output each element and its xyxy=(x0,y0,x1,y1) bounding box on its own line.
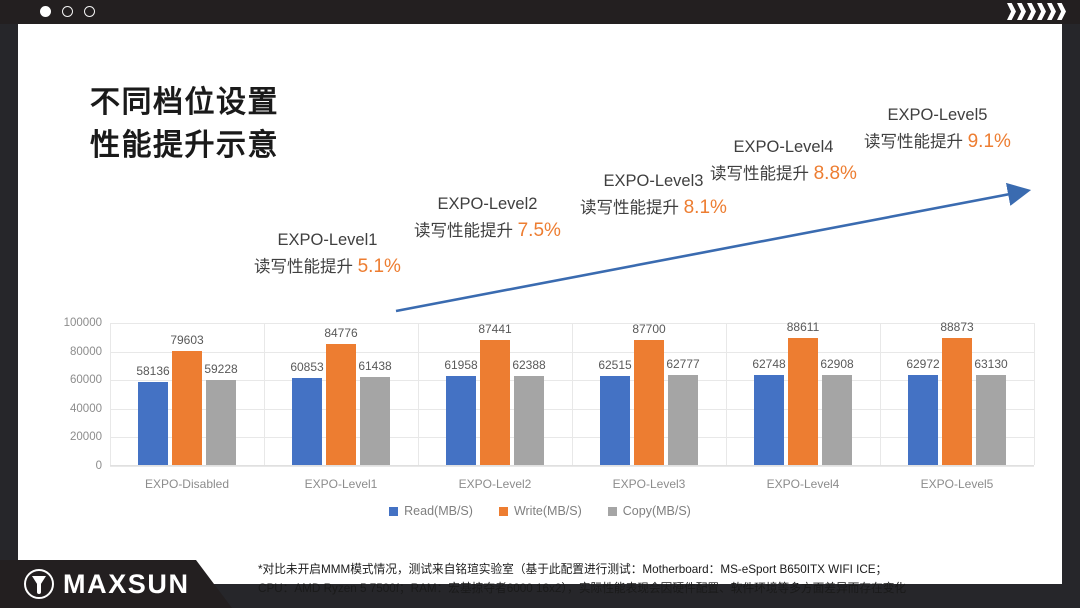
maxsun-emblem-icon xyxy=(24,569,54,599)
gridline xyxy=(110,466,1034,467)
bar-write[interactable]: 79603 xyxy=(172,351,202,465)
chevron-right-icon xyxy=(1057,3,1066,20)
legend-item[interactable]: Write(MB/S) xyxy=(499,504,582,518)
footnote-line1: *对比未开启MMM模式情况，测试来自铭瑄实验室（基于此配置进行测试：Mother… xyxy=(258,560,1068,579)
bar-read[interactable]: 62972 xyxy=(908,375,938,465)
chevron-decoration xyxy=(1007,3,1066,20)
chevron-right-icon xyxy=(1017,3,1026,20)
callout-level4-label: 读写性能提升 xyxy=(710,165,809,183)
callout-level3-label: 读写性能提升 xyxy=(580,199,679,217)
callout-level2-pct: 7.5% xyxy=(518,220,561,241)
chevron-right-icon xyxy=(1037,3,1046,20)
bar-value-label: 88873 xyxy=(940,320,973,334)
callout-level2-title: EXPO-Level2 xyxy=(414,192,561,217)
page-title: 不同档位设置 性能提升示意 xyxy=(90,82,279,167)
chart-legend: Read(MB/S)Write(MB/S)Copy(MB/S) xyxy=(40,504,1040,518)
y-tick-label: 80000 xyxy=(70,346,102,358)
bar-value-label: 62777 xyxy=(666,357,699,371)
x-tick-label: EXPO-Level3 xyxy=(572,477,726,491)
callout-level1-label: 读写性能提升 xyxy=(254,258,353,276)
bar-group: 627488861162908 xyxy=(726,323,880,465)
x-tick-label: EXPO-Level5 xyxy=(880,477,1034,491)
bar-value-label: 62972 xyxy=(906,357,939,371)
page-title-line1: 不同档位设置 xyxy=(90,82,279,125)
bar-read[interactable]: 61958 xyxy=(446,376,476,465)
legend-label: Copy(MB/S) xyxy=(623,504,691,518)
y-tick-label: 20000 xyxy=(70,431,102,443)
bar-value-label: 58136 xyxy=(136,364,169,378)
callout-level2: EXPO-Level2 读写性能提升 7.5% xyxy=(414,192,561,245)
y-tick-label: 60000 xyxy=(70,374,102,386)
slide-canvas: 不同档位设置 性能提升示意 EXPO-Level1 读写性能提升 5.1% EX… xyxy=(18,24,1062,584)
legend-item[interactable]: Read(MB/S) xyxy=(389,504,473,518)
dot-indicator-3[interactable] xyxy=(84,6,95,17)
bar-group: 608538477661438 xyxy=(264,323,418,465)
callout-level2-label: 读写性能提升 xyxy=(414,222,513,240)
bar-value-label: 62748 xyxy=(752,357,785,371)
bar-value-label: 59228 xyxy=(204,362,237,376)
callout-level4-title: EXPO-Level4 xyxy=(710,135,857,160)
dot-indicator-2[interactable] xyxy=(62,6,73,17)
slide-root: 不同档位设置 性能提升示意 EXPO-Level1 读写性能提升 5.1% EX… xyxy=(0,0,1080,608)
bar-value-label: 63130 xyxy=(974,357,1007,371)
bar-write[interactable]: 88873 xyxy=(942,338,972,465)
y-tick-label: 0 xyxy=(96,460,102,472)
bar-value-label: 79603 xyxy=(170,333,203,347)
callout-level5-label: 读写性能提升 xyxy=(864,133,963,151)
callout-level3-pct: 8.1% xyxy=(684,197,727,218)
x-tick-label: EXPO-Level4 xyxy=(726,477,880,491)
callout-level3: EXPO-Level3 读写性能提升 8.1% xyxy=(580,169,727,222)
y-axis-labels: 020000400006000080000100000 xyxy=(40,323,102,466)
category-separator xyxy=(1034,323,1035,465)
y-tick-label: 40000 xyxy=(70,403,102,415)
callout-level4: EXPO-Level4 读写性能提升 8.8% xyxy=(710,135,857,188)
legend-swatch xyxy=(499,507,508,516)
bar-value-label: 87441 xyxy=(478,322,511,336)
footnote-line2: CPU：AMD Ryzen 5 7500f；RAM：宏基掠夺者6000 16x2… xyxy=(258,579,1068,598)
chevron-right-icon xyxy=(1027,3,1036,20)
legend-item[interactable]: Copy(MB/S) xyxy=(608,504,691,518)
bar-value-label: 60853 xyxy=(290,360,323,374)
bar-copy[interactable]: 62777 xyxy=(668,375,698,465)
bar-read[interactable]: 62748 xyxy=(754,375,784,465)
callout-level5: EXPO-Level5 读写性能提升 9.1% xyxy=(864,103,1011,156)
bar-group: 625158770062777 xyxy=(572,323,726,465)
window-topbar xyxy=(0,0,1080,24)
bar-value-label: 62908 xyxy=(820,357,853,371)
x-tick-label: EXPO-Level2 xyxy=(418,477,572,491)
callout-level1: EXPO-Level1 读写性能提升 5.1% xyxy=(254,228,401,281)
callout-level5-title: EXPO-Level5 xyxy=(864,103,1011,128)
callout-level1-title: EXPO-Level1 xyxy=(254,228,401,253)
bar-write[interactable]: 84776 xyxy=(326,344,356,465)
bar-copy[interactable]: 61438 xyxy=(360,377,390,465)
bar-copy[interactable]: 59228 xyxy=(206,380,236,465)
bar-copy[interactable]: 63130 xyxy=(976,375,1006,465)
x-tick-label: EXPO-Disabled xyxy=(110,477,264,491)
performance-bar-chart: 020000400006000080000100000 581367960359… xyxy=(40,299,1040,514)
callout-level5-pct: 9.1% xyxy=(968,131,1011,152)
bar-value-label: 61958 xyxy=(444,358,477,372)
bar-groups: 5813679603592286085384776614386195887441… xyxy=(110,323,1034,465)
callout-level1-pct: 5.1% xyxy=(358,256,401,277)
dot-indicator-1[interactable] xyxy=(40,6,51,17)
footnote: *对比未开启MMM模式情况，测试来自铭瑄实验室（基于此配置进行测试：Mother… xyxy=(258,560,1068,599)
bar-value-label: 84776 xyxy=(324,326,357,340)
callout-level4-pct: 8.8% xyxy=(814,163,857,184)
bar-group: 619588744162388 xyxy=(418,323,572,465)
slide-indicator-dots[interactable] xyxy=(40,6,95,17)
y-tick-label: 100000 xyxy=(64,317,102,329)
legend-label: Write(MB/S) xyxy=(514,504,582,518)
page-title-line2: 性能提升示意 xyxy=(90,125,279,168)
bar-write[interactable]: 88611 xyxy=(788,338,818,465)
bar-read[interactable]: 60853 xyxy=(292,378,322,465)
bar-value-label: 62515 xyxy=(598,358,631,372)
bar-read[interactable]: 62515 xyxy=(600,376,630,465)
callout-level3-title: EXPO-Level3 xyxy=(580,169,727,194)
brand-name: MAXSUN xyxy=(63,571,190,598)
plot-area: 5813679603592286085384776614386195887441… xyxy=(110,323,1034,466)
legend-swatch xyxy=(608,507,617,516)
bar-group: 581367960359228 xyxy=(110,323,264,465)
bar-copy[interactable]: 62388 xyxy=(514,376,544,465)
bar-value-label: 61438 xyxy=(358,359,391,373)
brand-logo: MAXSUN xyxy=(0,560,232,608)
chevron-right-icon xyxy=(1047,3,1056,20)
bar-group: 629728887363130 xyxy=(880,323,1034,465)
bar-write[interactable]: 87441 xyxy=(480,340,510,465)
bar-value-label: 87700 xyxy=(632,322,665,336)
bar-value-label: 62388 xyxy=(512,358,545,372)
bar-copy[interactable]: 62908 xyxy=(822,375,852,465)
x-tick-label: EXPO-Level1 xyxy=(264,477,418,491)
bar-read[interactable]: 58136 xyxy=(138,382,168,465)
x-axis-labels: EXPO-DisabledEXPO-Level1EXPO-Level2EXPO-… xyxy=(110,477,1034,491)
legend-label: Read(MB/S) xyxy=(404,504,473,518)
bar-write[interactable]: 87700 xyxy=(634,340,664,465)
bar-value-label: 88611 xyxy=(787,320,819,334)
chevron-right-icon xyxy=(1007,3,1016,20)
legend-swatch xyxy=(389,507,398,516)
